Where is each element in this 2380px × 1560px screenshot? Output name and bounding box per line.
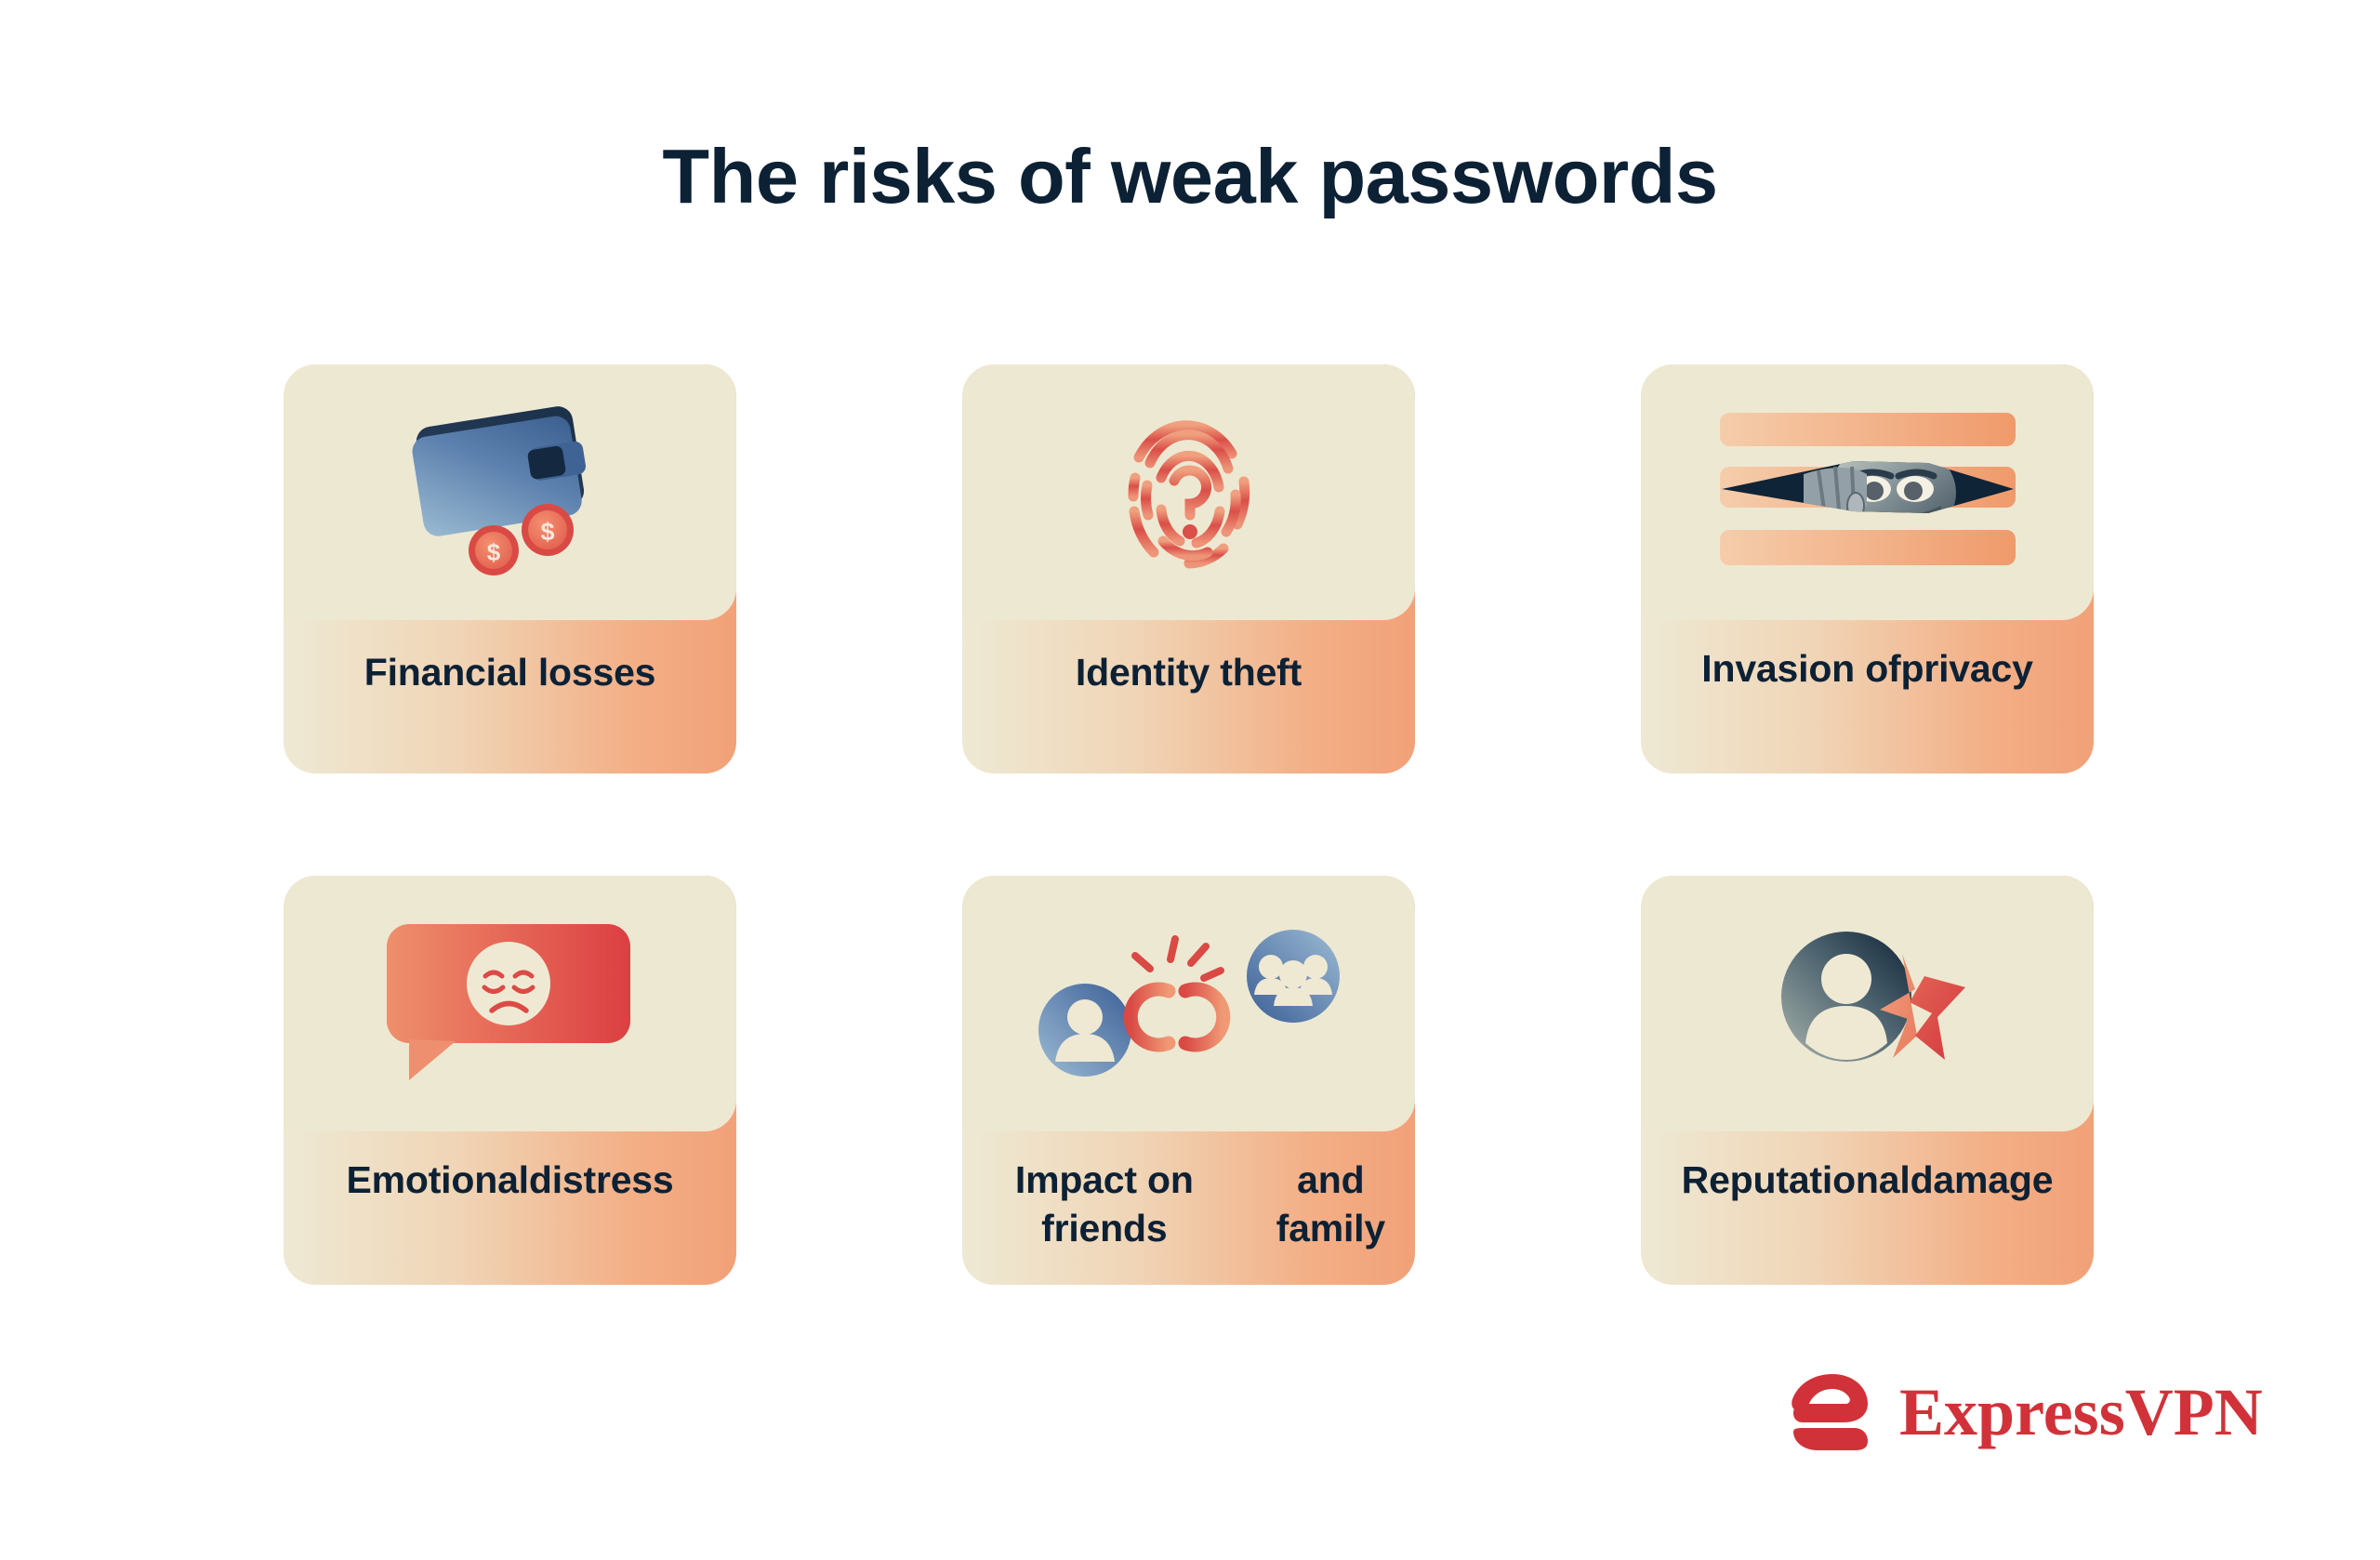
fingerprint-question-icon [962, 364, 1415, 620]
card-label: Impact on friendsand family [962, 1131, 1415, 1285]
risk-card-reputational-damage[interactable]: Reputationaldamage [1641, 876, 2094, 1285]
infographic-canvas: The risks of weak passwords [0, 0, 2380, 1560]
eyes-through-blinds-icon [1641, 364, 2094, 620]
risk-card-impact-on-friends-and-family[interactable]: Impact on friendsand family [962, 876, 1415, 1285]
card-label: Emotionaldistress [284, 1131, 736, 1285]
person-broken-star-icon [1641, 876, 2094, 1131]
sad-face-speech-bubble-icon [284, 876, 736, 1131]
card-label-line2: privacy [1901, 644, 2033, 693]
card-label-line2: damage [1911, 1156, 2054, 1204]
expressvpn-wordmark: ExpressVPN [1899, 1379, 2263, 1446]
risk-card-financial-losses[interactable]: $ $ Financial losses [284, 364, 736, 773]
card-label-line1: Impact on friends [962, 1156, 1247, 1253]
card-label-line1: Reputational [1682, 1156, 1911, 1204]
expressvpn-logo: ExpressVPN [1790, 1367, 2263, 1457]
card-label-line2: distress [529, 1156, 674, 1204]
expressvpn-e-icon [1790, 1367, 1875, 1457]
svg-text:$: $ [486, 538, 500, 566]
card-label-line1: Emotional [346, 1156, 528, 1204]
card-label: Reputationaldamage [1641, 1131, 2094, 1285]
card-label: Financial losses [284, 620, 736, 773]
page-title: The risks of weak passwords [0, 132, 2380, 220]
card-label: Invasion ofprivacy [1641, 620, 2094, 773]
risk-card-identity-theft[interactable]: Identity theft [962, 364, 1415, 773]
card-label-line2: and family [1247, 1156, 1415, 1253]
risk-card-grid: $ $ Financial losses [284, 364, 2096, 1285]
card-label-line1: Invasion of [1701, 644, 1900, 693]
wallet-coins-icon: $ $ [284, 364, 736, 620]
card-label: Identity theft [962, 620, 1415, 773]
risk-card-emotional-distress[interactable]: Emotionaldistress [284, 876, 736, 1285]
svg-text:$: $ [540, 518, 554, 546]
risk-card-invasion-of-privacy[interactable]: Invasion ofprivacy [1641, 364, 2094, 773]
broken-chain-people-icon [962, 876, 1415, 1131]
